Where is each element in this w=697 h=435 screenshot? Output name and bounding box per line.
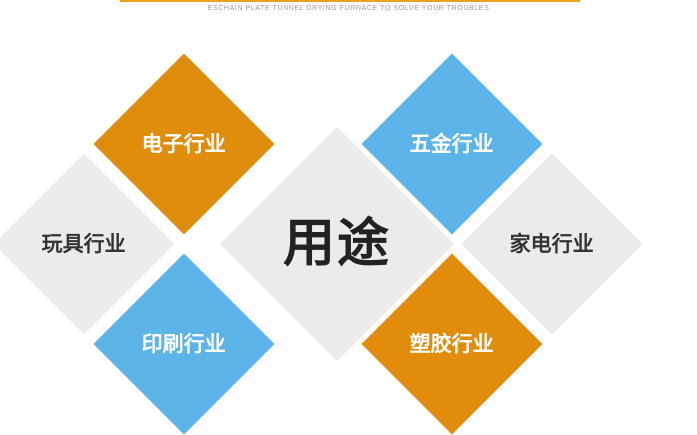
diamond-label-electronics-industry: 电子行业: [142, 134, 226, 155]
diamond-label-center-usage: 用途: [283, 218, 391, 270]
header-strip: ESCHAIN PLATE TUNNEL DRYING FURNACE TO S…: [0, 0, 697, 20]
usage-diamond-diagram: 玩具行业 电子行业 印刷行业 五金行业 塑胶行业 家电行业 用途: [0, 20, 697, 414]
diamond-label-home-appliance-industry: 家电行业: [510, 234, 594, 255]
diamond-label-hardware-industry: 五金行业: [410, 134, 494, 155]
diamond-label-plastics-industry: 塑胶行业: [410, 334, 494, 355]
header-divider-rule: [120, 0, 580, 2]
diamond-label-toy-industry: 玩具行业: [42, 234, 126, 255]
header-tagline: ESCHAIN PLATE TUNNEL DRYING FURNACE TO S…: [0, 5, 697, 12]
diamond-label-printing-industry: 印刷行业: [142, 334, 226, 355]
